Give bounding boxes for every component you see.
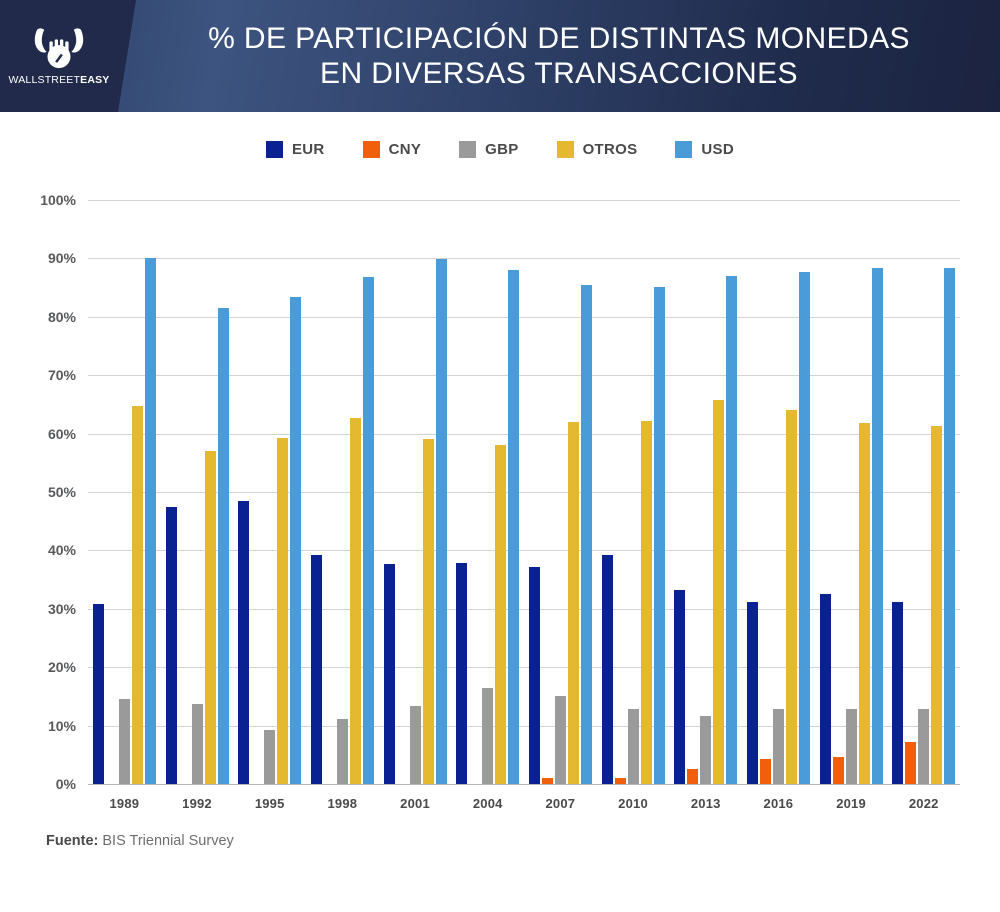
bar-otros-1992[interactable] [205,451,216,784]
bar-group-2022 [887,200,960,784]
bar-eur-2013[interactable] [674,590,685,784]
x-axis-label-1989: 1989 [88,796,161,811]
bar-cny-2022[interactable] [905,742,916,784]
legend-swatch-otros-icon [557,141,574,158]
legend-item-otros[interactable]: OTROS [557,141,638,158]
bar-eur-2010[interactable] [602,555,613,784]
bar-group-1992 [161,200,234,784]
bar-otros-2007[interactable] [568,422,579,784]
y-axis-tick-label: 20% [48,659,76,675]
bar-gbp-2004[interactable] [482,688,493,784]
bar-usd-2010[interactable] [654,287,665,784]
page-title-line-1: % DE PARTICIPACIÓN DE DISTINTAS MONEDAS [208,21,910,56]
bar-otros-2010[interactable] [641,421,652,784]
bar-gbp-1998[interactable] [337,719,348,784]
bar-cny-2016[interactable] [760,759,771,784]
source-value: BIS Triennial Survey [102,833,233,849]
bar-eur-2019[interactable] [820,594,831,784]
y-axis-tick-label: 40% [48,542,76,558]
bar-usd-2001[interactable] [436,259,447,784]
bar-gbp-2022[interactable] [918,709,929,784]
bar-usd-1998[interactable] [363,277,374,784]
x-axis-label-1992: 1992 [161,796,234,811]
bar-usd-2019[interactable] [872,268,883,784]
x-axis-label-2010: 2010 [597,796,670,811]
bar-otros-1995[interactable] [277,438,288,784]
source-label: Fuente: [46,833,98,849]
bar-usd-2022[interactable] [944,268,955,784]
logo-wordmark-secondary: EASY [80,74,109,86]
x-axis-label-2007: 2007 [524,796,597,811]
bar-otros-2013[interactable] [713,400,724,784]
y-axis-tick-label: 50% [48,484,76,500]
legend-label: EUR [292,141,325,158]
bar-usd-2016[interactable] [799,272,810,784]
bar-eur-2022[interactable] [892,602,903,784]
bar-gbp-2013[interactable] [700,716,711,784]
bar-otros-2022[interactable] [931,426,942,784]
x-axis-label-1998: 1998 [306,796,379,811]
legend-swatch-eur-icon [266,141,283,158]
bar-group-2019 [815,200,888,784]
bar-usd-2007[interactable] [581,285,592,784]
x-axis-labels: 1989199219951998200120042007201020132016… [88,796,960,811]
chart-plot: 100%90%80%70%60%50%40%30%20%10%0% [88,200,960,784]
bull-head-icon [30,27,88,71]
page-title-line-2: EN DIVERSAS TRANSACCIONES [320,56,798,91]
bar-group-2010 [597,200,670,784]
bar-group-1995 [233,200,306,784]
y-axis-tick-label: 80% [48,309,76,325]
page-header: WALLSTREETEASY % DE PARTICIPACIÓN DE DIS… [0,0,1000,112]
bar-usd-1992[interactable] [218,308,229,784]
legend-item-eur[interactable]: EUR [266,141,325,158]
legend-swatch-gbp-icon [459,141,476,158]
bar-otros-2016[interactable] [786,410,797,784]
bar-cny-2013[interactable] [687,769,698,784]
legend-label: USD [701,141,734,158]
bar-cny-2010[interactable] [615,778,626,784]
x-axis-label-2004: 2004 [451,796,524,811]
y-axis-tick-label: 100% [40,192,76,208]
legend-label: CNY [389,141,422,158]
bar-group-1989 [88,200,161,784]
bar-gbp-1995[interactable] [264,730,275,784]
y-axis-tick-label: 30% [48,601,76,617]
x-axis-line: 0% [88,784,960,785]
bar-cny-2019[interactable] [833,757,844,784]
bar-otros-1998[interactable] [350,418,361,784]
y-axis-tick-label: 90% [48,250,76,266]
x-axis-label-2019: 2019 [815,796,888,811]
source-note: Fuente: BIS Triennial Survey [46,833,234,849]
x-axis-label-1995: 1995 [233,796,306,811]
brand-logo-block: WALLSTREETEASY [0,0,118,112]
bar-gbp-2016[interactable] [773,709,784,784]
bar-otros-2004[interactable] [495,445,506,784]
bar-gbp-1989[interactable] [119,699,130,784]
bar-gbp-1992[interactable] [192,704,203,784]
legend-label: GBP [485,141,518,158]
bar-eur-2007[interactable] [529,567,540,784]
bar-eur-2001[interactable] [384,564,395,784]
page-title: % DE PARTICIPACIÓN DE DISTINTAS MONEDAS … [118,0,1000,112]
bar-usd-1989[interactable] [145,258,156,784]
logo-wordmark: WALLSTREETEASY [8,74,109,86]
bar-gbp-2010[interactable] [628,709,639,784]
y-axis-tick-label: 60% [48,426,76,442]
bar-usd-2013[interactable] [726,276,737,784]
bar-eur-2004[interactable] [456,563,467,784]
x-axis-label-2013: 2013 [669,796,742,811]
bar-groups [88,200,960,784]
bar-group-2007 [524,200,597,784]
bar-otros-1989[interactable] [132,406,143,784]
legend-item-usd[interactable]: USD [675,141,734,158]
bar-gbp-2007[interactable] [555,696,566,784]
legend-label: OTROS [583,141,638,158]
bar-usd-1995[interactable] [290,297,301,784]
logo-wordmark-primary: WALLSTREET [8,74,80,86]
bar-group-2001 [379,200,452,784]
y-axis-tick-label: 10% [48,718,76,734]
bar-group-2016 [742,200,815,784]
logo: WALLSTREETEASY [16,27,102,86]
bar-eur-1989[interactable] [93,604,104,784]
bar-group-2004 [451,200,524,784]
chart-area: 100%90%80%70%60%50%40%30%20%10%0% 198919… [0,164,1000,824]
chart-legend: EURCNYGBPOTROSUSD [0,112,1000,164]
bar-group-2013 [669,200,742,784]
x-axis-label-2001: 2001 [379,796,452,811]
bar-group-1998 [306,200,379,784]
bar-otros-2019[interactable] [859,423,870,784]
bar-otros-2001[interactable] [423,439,434,784]
bar-eur-1998[interactable] [311,555,322,785]
y-axis-tick-label: 70% [48,367,76,383]
bar-gbp-2019[interactable] [846,709,857,784]
x-axis-label-2016: 2016 [742,796,815,811]
legend-swatch-cny-icon [363,141,380,158]
legend-item-cny[interactable]: CNY [363,141,422,158]
legend-item-gbp[interactable]: GBP [459,141,518,158]
legend-swatch-usd-icon [675,141,692,158]
bar-cny-2007[interactable] [542,778,553,784]
bar-eur-2016[interactable] [747,602,758,784]
bar-usd-2004[interactable] [508,270,519,784]
bar-gbp-2001[interactable] [410,706,421,784]
y-axis-tick-label: 0% [56,776,76,792]
bar-eur-1995[interactable] [238,501,249,784]
x-axis-label-2022: 2022 [887,796,960,811]
bar-eur-1992[interactable] [166,507,177,784]
